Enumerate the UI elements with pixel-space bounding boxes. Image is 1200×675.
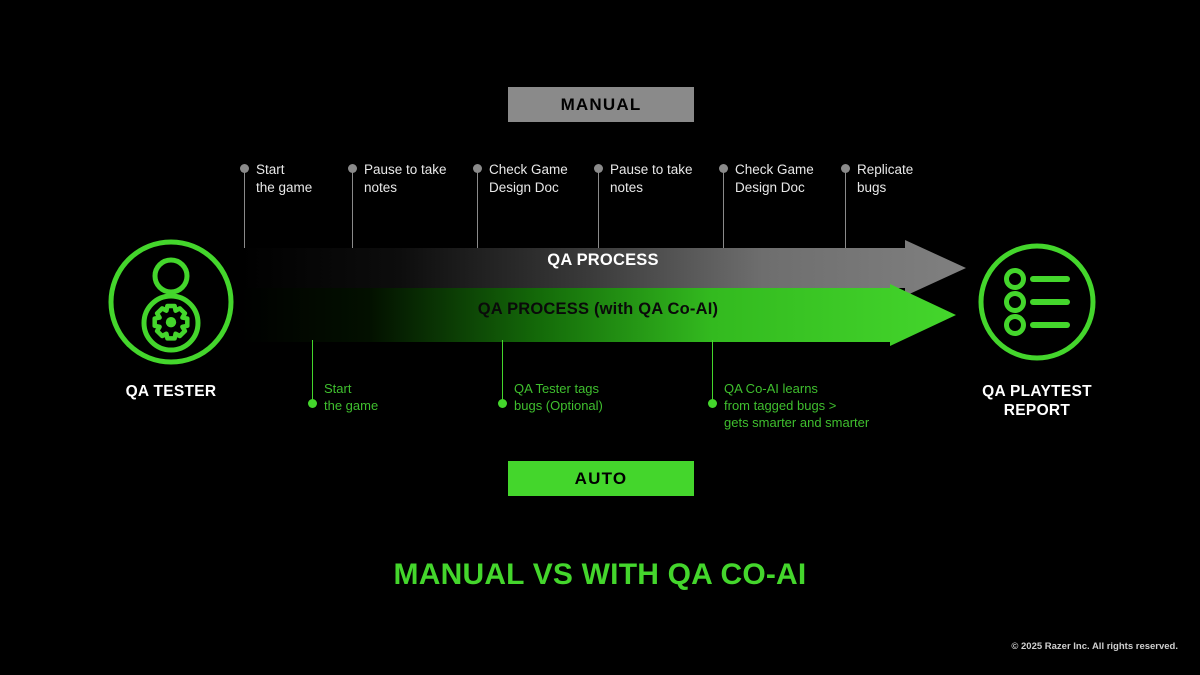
auto-process-arrow: QA PROCESS (with QA Co-AI) [240,284,956,346]
auto-step-dot [308,399,317,408]
qa-tester-person-gear-icon [105,236,237,368]
auto-arrow-shape [240,284,956,346]
manual-step-label: Pause to take notes [364,161,484,197]
manual-step-label: Check Game Design Doc [735,161,855,197]
manual-step-label: Pause to take notes [610,161,730,197]
qa-report-checklist-icon [971,236,1103,368]
auto-step-dot [708,399,717,408]
auto-step-label: QA Tester tags bugs (Optional) [514,380,689,414]
qa-tester-caption: QA TESTER [100,382,242,401]
auto-chip-label: AUTO [575,469,628,489]
auto-step-label: QA Co-AI learns from tagged bugs > gets … [724,380,899,431]
manual-step-label: Check Game Design Doc [489,161,609,197]
endpoint-qa-playtest-report: QA PLAYTEST REPORT [966,236,1108,420]
auto-mode-chip: AUTO [508,461,694,496]
manual-chip-label: MANUAL [561,95,642,115]
page-title: MANUAL VS WITH QA CO-AI [0,558,1200,592]
manual-mode-chip: MANUAL [508,87,694,122]
endpoint-qa-tester: QA TESTER [100,236,242,401]
auto-step-stem [712,340,713,402]
qa-report-caption: QA PLAYTEST REPORT [966,382,1108,420]
infographic-canvas: MANUAL AUTO Start the gamePause to take … [0,0,1200,675]
auto-step-stem [312,340,313,402]
copyright-notice: © 2025 Razer Inc. All rights reserved. [1011,641,1178,652]
auto-step-stem [502,340,503,402]
auto-step-dot [498,399,507,408]
manual-step-label: Start the game [256,161,376,197]
auto-step-label: Start the game [324,380,499,414]
manual-step-label: Replicate bugs [857,161,977,197]
